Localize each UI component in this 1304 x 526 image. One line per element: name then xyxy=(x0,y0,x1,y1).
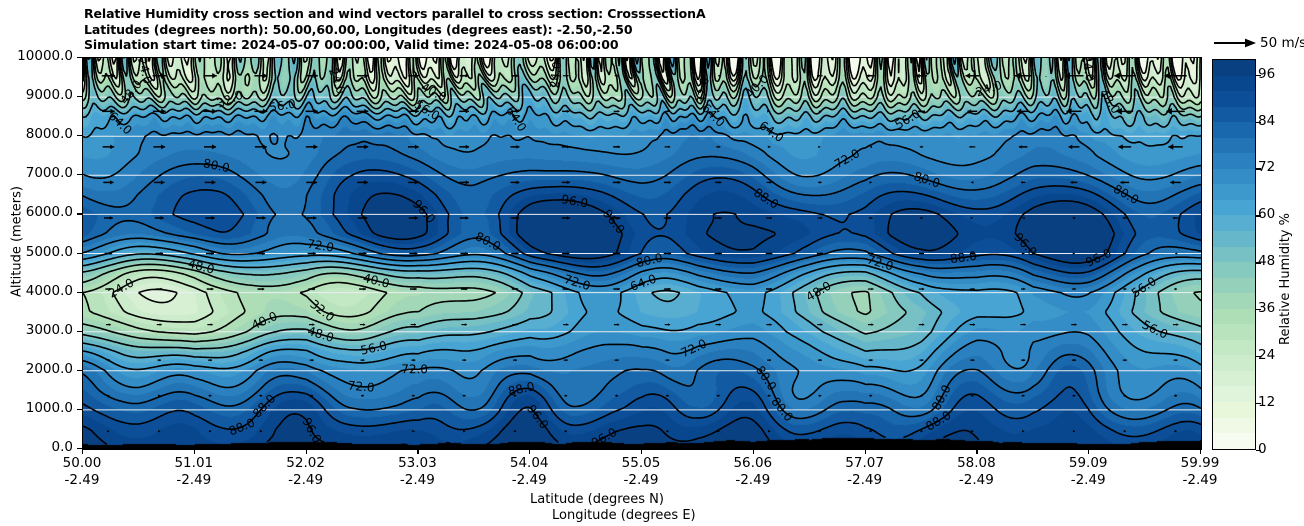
contour-label: 24.0 xyxy=(547,61,564,89)
contour-label: 96.0 xyxy=(1084,246,1114,270)
wind-vector-head xyxy=(770,323,772,326)
contour-label: 64.0 xyxy=(699,101,728,130)
wind-vector-head xyxy=(820,181,822,184)
wind-vector-head xyxy=(415,216,418,220)
x-axis-tick-mark xyxy=(865,449,866,454)
wind-vector-head xyxy=(262,288,264,291)
contour-label: 72.0 xyxy=(865,252,895,273)
y-axis-tick-label: 7000.0 xyxy=(26,165,73,181)
y-axis-tick-label: 2000.0 xyxy=(26,361,73,377)
contour-label: 24.0 xyxy=(1079,58,1097,83)
colorbar-segment xyxy=(1213,418,1255,434)
colorbar-tick-label: 60 xyxy=(1258,206,1275,222)
x-axis-tick-mark xyxy=(1200,449,1201,454)
contour-label: 24.0 xyxy=(106,275,136,300)
wind-vector-head xyxy=(161,216,164,220)
contour-label: 80.0 xyxy=(753,363,780,393)
wind-vector-head xyxy=(1114,72,1120,79)
contour-label: 64.0 xyxy=(503,104,529,134)
wind-vector-head xyxy=(515,359,517,362)
wind-vector-head xyxy=(363,323,365,326)
quiver-key: 50 m/s xyxy=(1212,34,1304,54)
colorbar-segment xyxy=(1213,184,1255,200)
wind-vector-head xyxy=(768,394,770,397)
contour-line-48 xyxy=(83,58,1201,349)
wind-vector-head xyxy=(464,394,466,397)
wind-vector-head xyxy=(870,181,872,184)
wind-vector-head xyxy=(161,180,165,184)
colorbar-segment xyxy=(1213,60,1255,76)
wind-vector-head xyxy=(1022,430,1024,433)
wind-vector-head xyxy=(1124,430,1126,433)
colorbar-tick-label: 96 xyxy=(1258,66,1275,82)
contour-label: 72.0 xyxy=(832,146,862,171)
figure-root: Relative Humidity cross section and wind… xyxy=(0,0,1304,526)
x-axis-tick-mark xyxy=(417,449,418,454)
y-axis-tick-mark xyxy=(77,96,82,97)
y-axis-tick-label: 10000.0 xyxy=(17,48,73,64)
wind-vector-head xyxy=(1073,394,1075,397)
contour-label: 96.0 xyxy=(560,192,589,210)
wind-vector-head xyxy=(972,359,974,362)
wind-vector-head xyxy=(921,217,923,220)
contour-label: 48.0 xyxy=(186,257,215,277)
colorbar-segment xyxy=(1213,76,1255,92)
wind-vector-head xyxy=(567,74,569,77)
wind-vector-head xyxy=(516,252,519,255)
wind-vector-head xyxy=(414,288,416,291)
wind-vector-head xyxy=(1124,288,1126,291)
colorbar-segment xyxy=(1213,231,1255,247)
quiver-key-label: 50 m/s xyxy=(1260,35,1304,51)
title-line-2: Latitudes (degrees north): 50.00,60.00, … xyxy=(84,22,1194,38)
contour-label: 88.0 xyxy=(227,415,257,438)
y-axis-label-text: Altitude (meters) xyxy=(10,127,25,357)
wind-vector-head xyxy=(871,323,873,326)
wind-vector-head xyxy=(922,323,924,326)
colorbar-tick-label: 36 xyxy=(1258,300,1275,316)
wind-vector-head xyxy=(770,252,772,255)
contour-label: 88.0 xyxy=(949,249,977,266)
x-axis-tick-label-longitude: -2.49 xyxy=(936,472,1016,488)
wind-vector-head xyxy=(667,359,669,362)
x-axis-tick-label-latitude: 54.04 xyxy=(489,455,569,471)
contour-label: 32.0 xyxy=(307,297,337,324)
wind-vector-head xyxy=(110,180,113,184)
wind-vector-head xyxy=(770,217,772,220)
colorbar-tick-label: 72 xyxy=(1258,159,1275,175)
contour-label: 80.0 xyxy=(473,229,503,254)
wind-vector-head xyxy=(973,323,975,326)
y-axis-tick-mark xyxy=(77,57,82,58)
contour-label: 80.0 xyxy=(912,169,942,191)
wind-vector-head xyxy=(414,323,416,326)
wind-vector-head xyxy=(719,323,721,326)
contour-label: 96.0 xyxy=(524,402,551,432)
wind-vector-head xyxy=(567,181,570,184)
x-axis-tick-label-latitude: 53.03 xyxy=(377,455,457,471)
wind-vector-head xyxy=(1023,288,1025,291)
wind-vector-head xyxy=(1176,323,1178,326)
contour-label: 80.0 xyxy=(1111,182,1141,207)
wind-vector-head xyxy=(1175,288,1177,291)
x-axis-tick-mark xyxy=(976,449,977,454)
colorbar-segment xyxy=(1213,262,1255,278)
wind-vector-head xyxy=(718,394,720,397)
wind-vector-head xyxy=(1019,145,1022,149)
wind-vector-head xyxy=(1021,181,1023,184)
wind-vector-head xyxy=(965,73,970,79)
x-axis-tick-label-latitude: 52.02 xyxy=(266,455,346,471)
wind-vector-head xyxy=(313,216,316,220)
contour-label: 56.0 xyxy=(1140,317,1170,341)
wind-vector-head xyxy=(516,181,519,185)
x-axis-tick-mark xyxy=(529,449,530,454)
wind-vector-head xyxy=(969,146,971,149)
wind-vector-head xyxy=(516,145,519,149)
colorbar-segment xyxy=(1213,200,1255,216)
wind-vector-head xyxy=(211,288,213,291)
x-axis-tick-label-longitude: -2.49 xyxy=(825,472,905,488)
wind-vector-head xyxy=(871,359,873,362)
wind-vector-head xyxy=(1075,323,1077,326)
y-axis-tick-mark xyxy=(77,292,82,293)
wind-vector-head xyxy=(718,74,720,77)
wind-vector-head xyxy=(161,144,165,149)
x-axis-label-longitude: Longitude (degrees E) xyxy=(552,508,696,523)
wind-vector-head xyxy=(465,323,467,326)
colorbar-segment xyxy=(1213,355,1255,371)
wind-vector-head xyxy=(466,216,469,220)
wind-vector-head xyxy=(262,252,265,255)
wind-vector-head xyxy=(1125,359,1127,362)
x-axis-tick-label-longitude: -2.49 xyxy=(713,472,793,488)
wind-vector-head xyxy=(718,146,720,149)
wind-vector-head xyxy=(567,252,570,255)
wind-vector-head xyxy=(260,394,262,397)
x-axis-tick-label-longitude: -2.49 xyxy=(154,472,234,488)
contour-label: 88.0 xyxy=(507,379,536,398)
x-axis-tick-label-latitude: 59.09 xyxy=(1048,455,1128,471)
wind-vector-head xyxy=(669,216,671,219)
x-axis-tick-label-latitude: 57.07 xyxy=(825,455,905,471)
wind-vector-head xyxy=(212,180,216,185)
wind-vector-head xyxy=(1073,217,1075,220)
x-axis-tick-label-latitude: 50.00 xyxy=(42,455,122,471)
x-axis-label-latitude: Latitude (degrees N) xyxy=(530,492,664,507)
wind-vector-head xyxy=(971,181,973,184)
wind-vector-head xyxy=(567,216,570,219)
wind-vector-head xyxy=(159,359,161,362)
y-axis-tick-mark xyxy=(77,370,82,371)
wind-vector-head xyxy=(719,181,721,184)
wind-vector-head xyxy=(668,146,670,149)
wind-vector-head xyxy=(567,145,570,148)
colorbar-segment xyxy=(1213,309,1255,325)
colorbar-tick-label: 12 xyxy=(1258,394,1275,410)
wind-vector-head xyxy=(667,394,669,397)
wind-vector-head xyxy=(110,216,113,220)
wind-vector-head xyxy=(819,394,821,397)
wind-vector-head xyxy=(158,430,160,433)
x-axis-tick-label-latitude: 59.99 xyxy=(1160,455,1240,471)
contour-label: 56.0 xyxy=(268,96,297,114)
wind-vector-head xyxy=(920,146,922,149)
x-axis-tick-mark xyxy=(82,449,83,454)
title-line-3: Simulation start time: 2024-05-07 00:00:… xyxy=(84,37,1194,53)
wind-vector-head xyxy=(160,323,162,326)
wind-vector-head xyxy=(262,216,265,220)
contour-label: 64.0 xyxy=(106,109,135,138)
contour-line-40 xyxy=(83,58,1201,342)
wind-vector-head xyxy=(107,430,109,433)
x-axis-tick-label-longitude: -2.49 xyxy=(377,472,457,488)
wind-vector-head xyxy=(769,359,771,362)
x-axis-tick-mark xyxy=(194,449,195,454)
y-axis-tick-label: 0.0 xyxy=(52,439,73,455)
x-axis-tick-label-longitude: -2.49 xyxy=(266,472,346,488)
wind-vector-head xyxy=(1175,394,1177,397)
wind-vector-head xyxy=(415,252,418,255)
wind-vector-head xyxy=(719,252,721,255)
title-line-1: Relative Humidity cross section and wind… xyxy=(84,6,1194,22)
colorbar-segment xyxy=(1213,371,1255,387)
wind-vector-head xyxy=(565,430,567,433)
y-axis-tick-mark xyxy=(77,135,82,136)
wind-vector-head xyxy=(212,216,215,220)
contour-label: 88.0 xyxy=(250,392,279,421)
wind-vector-head xyxy=(212,109,216,115)
contour-and-wind-overlay: 24.024.024.024.024.024.032.032.032.040.0… xyxy=(83,58,1201,449)
wind-vector-head xyxy=(617,110,619,113)
wind-vector-head xyxy=(566,323,568,326)
y-axis-tick-mark xyxy=(77,253,82,254)
wind-vector-head xyxy=(616,394,618,397)
wind-vector-head xyxy=(364,252,367,255)
colorbar-segment xyxy=(1213,153,1255,169)
wind-vector-head xyxy=(1175,430,1177,433)
wind-vector-head xyxy=(669,252,672,255)
y-axis-tick-label: 8000.0 xyxy=(26,126,73,142)
wind-vector-head xyxy=(719,288,721,291)
colorbar-tick-label: 84 xyxy=(1258,113,1275,129)
colorbar-segment xyxy=(1213,433,1255,449)
wind-vector-head xyxy=(870,394,872,397)
wind-vector-head xyxy=(669,181,671,184)
colorbar-segment xyxy=(1213,91,1255,107)
wind-vector-head xyxy=(363,359,365,362)
contour-label: 96.0 xyxy=(600,207,627,237)
wind-vector-head xyxy=(1175,252,1177,255)
wind-vector-head xyxy=(768,146,770,149)
wind-vector-head xyxy=(1123,217,1125,220)
wind-vector-head xyxy=(209,394,211,397)
colorbar-segment xyxy=(1213,138,1255,154)
y-axis-tick-label: 1000.0 xyxy=(26,400,73,416)
contour-label: 96.0 xyxy=(410,197,438,226)
wind-vector-head xyxy=(212,73,217,79)
colorbar-segment xyxy=(1213,386,1255,402)
cross-section-plot[interactable]: 24.024.024.024.024.024.032.032.032.040.0… xyxy=(82,57,1202,450)
wind-vector-head xyxy=(617,323,619,326)
wind-vector-head xyxy=(1170,180,1174,184)
wind-vector-head xyxy=(1073,252,1075,255)
wind-vector-head xyxy=(1023,359,1025,362)
wind-vector-head xyxy=(667,430,669,433)
colorbar-tick-label: 0 xyxy=(1258,441,1267,457)
y-axis-tick-label: 4000.0 xyxy=(26,283,73,299)
wind-vector-head xyxy=(312,359,314,362)
wind-vector-head xyxy=(313,180,317,184)
contour-label: 56.0 xyxy=(359,338,388,357)
x-axis-tick-mark xyxy=(306,449,307,454)
wind-vector-head xyxy=(210,359,212,362)
wind-vector-head xyxy=(514,430,516,433)
wind-vector-head xyxy=(719,217,721,220)
colorbar-tick-label: 48 xyxy=(1258,253,1275,269)
wind-vector-head xyxy=(1168,144,1173,150)
wind-vector-head xyxy=(566,359,568,362)
colorbar-label-text: Relative Humidity % xyxy=(1278,213,1293,345)
colorbar[interactable] xyxy=(1212,59,1256,450)
contour-label: 72.0 xyxy=(306,237,335,255)
wind-vector-head xyxy=(362,394,364,397)
x-axis-tick-label-longitude: -2.49 xyxy=(42,472,122,488)
contour-label: 80.0 xyxy=(929,383,954,413)
wind-vector-head xyxy=(362,430,364,433)
colorbar-tick-label: 24 xyxy=(1258,347,1275,363)
x-axis-tick-mark xyxy=(753,449,754,454)
colorbar-segment xyxy=(1213,169,1255,185)
colorbar-label: Relative Humidity % xyxy=(1278,345,1304,360)
x-axis-tick-label-latitude: 51.01 xyxy=(154,455,234,471)
wind-vector-head xyxy=(1074,288,1076,291)
colorbar-segment xyxy=(1213,107,1255,123)
x-axis-tick-label-longitude: -2.49 xyxy=(489,472,569,488)
contour-label: 72.0 xyxy=(347,378,375,394)
wind-vector-head xyxy=(413,359,415,362)
wind-vector-head xyxy=(1024,323,1026,326)
colorbar-segment xyxy=(1213,122,1255,138)
y-axis-tick-mark xyxy=(77,174,82,175)
wind-vector-head xyxy=(263,180,267,185)
wind-vector-head xyxy=(818,146,820,149)
x-axis-tick-mark xyxy=(1088,449,1089,454)
contour-label: 80.0 xyxy=(768,395,796,425)
x-axis-tick-label-longitude: -2.49 xyxy=(1160,472,1240,488)
wind-vector-head xyxy=(618,288,620,291)
contour-line-96 xyxy=(83,193,1114,444)
wind-vector-head xyxy=(871,217,873,220)
wind-vector-head xyxy=(109,323,111,326)
wind-vector-head xyxy=(466,180,469,184)
wind-vector-head xyxy=(1023,217,1025,220)
wind-vector-head xyxy=(565,394,567,397)
y-axis-tick-label: 9000.0 xyxy=(26,87,73,103)
wind-vector-head xyxy=(668,323,670,326)
x-axis-tick-mark xyxy=(641,449,642,454)
contour-label: 40.0 xyxy=(249,309,279,333)
wind-vector-head xyxy=(466,145,469,149)
colorbar-segment xyxy=(1213,278,1255,294)
wind-vector-head xyxy=(820,359,822,362)
wind-vector-head xyxy=(922,252,924,255)
contour-label: 32.0 xyxy=(215,88,245,111)
y-axis-tick-mark xyxy=(77,331,82,332)
colorbar-segment xyxy=(1213,215,1255,231)
colorbar-segment xyxy=(1213,293,1255,309)
y-axis-tick-mark xyxy=(77,213,82,214)
wind-vector-head xyxy=(1074,359,1076,362)
wind-vector-head xyxy=(618,181,621,184)
wind-vector-head xyxy=(1176,359,1178,362)
wind-vector-head xyxy=(768,430,770,433)
contour-label: 72.0 xyxy=(679,336,709,360)
wind-vector-head xyxy=(1069,145,1073,150)
contour-label: 88.0 xyxy=(751,185,781,211)
wind-vector-head xyxy=(871,288,873,291)
wind-vector-head xyxy=(364,288,366,291)
colorbar-segment xyxy=(1213,247,1255,263)
x-axis-tick-label-latitude: 56.06 xyxy=(713,455,793,471)
x-axis-tick-label-latitude: 55.05 xyxy=(601,455,681,471)
wind-vector-head xyxy=(413,394,415,397)
x-axis-tick-label-longitude: -2.49 xyxy=(1048,472,1128,488)
wind-vector-head xyxy=(922,359,924,362)
y-axis-label: Altitude (meters) xyxy=(6,126,28,356)
wind-vector-head xyxy=(415,145,419,150)
x-axis-tick-label-longitude: -2.49 xyxy=(601,472,681,488)
wind-vector-head xyxy=(971,430,973,433)
wind-vector-head xyxy=(1125,323,1127,326)
contour-line-64 xyxy=(83,102,1201,372)
wind-vector-head xyxy=(1173,217,1175,220)
wind-vector-head xyxy=(314,144,318,149)
wind-vector-head xyxy=(364,180,368,184)
contour-label: 96.0 xyxy=(589,425,619,449)
right-arrow-icon xyxy=(1212,34,1258,52)
colorbar-segment xyxy=(1213,340,1255,356)
wind-vector-head xyxy=(212,144,216,149)
wind-vector-head xyxy=(412,430,414,433)
wind-vector-head xyxy=(261,359,263,362)
contour-label: 80.0 xyxy=(202,156,231,175)
wind-vector-head xyxy=(1073,430,1075,433)
wind-vector-head xyxy=(922,288,924,291)
y-axis-tick-label: 5000.0 xyxy=(26,244,73,260)
figure-title: Relative Humidity cross section and wind… xyxy=(84,6,1194,53)
wind-vector-head xyxy=(618,252,621,255)
wind-vector-head xyxy=(364,144,368,149)
contour-label: 72.0 xyxy=(401,362,428,376)
wind-vector-head xyxy=(617,359,619,362)
wind-vector-head xyxy=(463,430,465,433)
wind-vector-head xyxy=(971,217,973,220)
wind-vector-head xyxy=(1071,181,1073,184)
colorbar-segment xyxy=(1213,402,1255,418)
y-axis-tick-label: 3000.0 xyxy=(26,322,73,338)
wind-vector-head xyxy=(1118,144,1122,149)
wind-vector-head xyxy=(209,430,211,433)
wind-vector-head xyxy=(1023,394,1025,397)
y-axis-tick-mark xyxy=(77,409,82,410)
contour-label: 56.0 xyxy=(1129,274,1159,300)
colorbar-segment xyxy=(1213,324,1255,340)
wind-vector-head xyxy=(211,323,213,326)
wind-vector-head xyxy=(110,144,114,149)
x-axis-tick-label-latitude: 58.08 xyxy=(936,455,1016,471)
wind-vector-head xyxy=(821,323,823,326)
